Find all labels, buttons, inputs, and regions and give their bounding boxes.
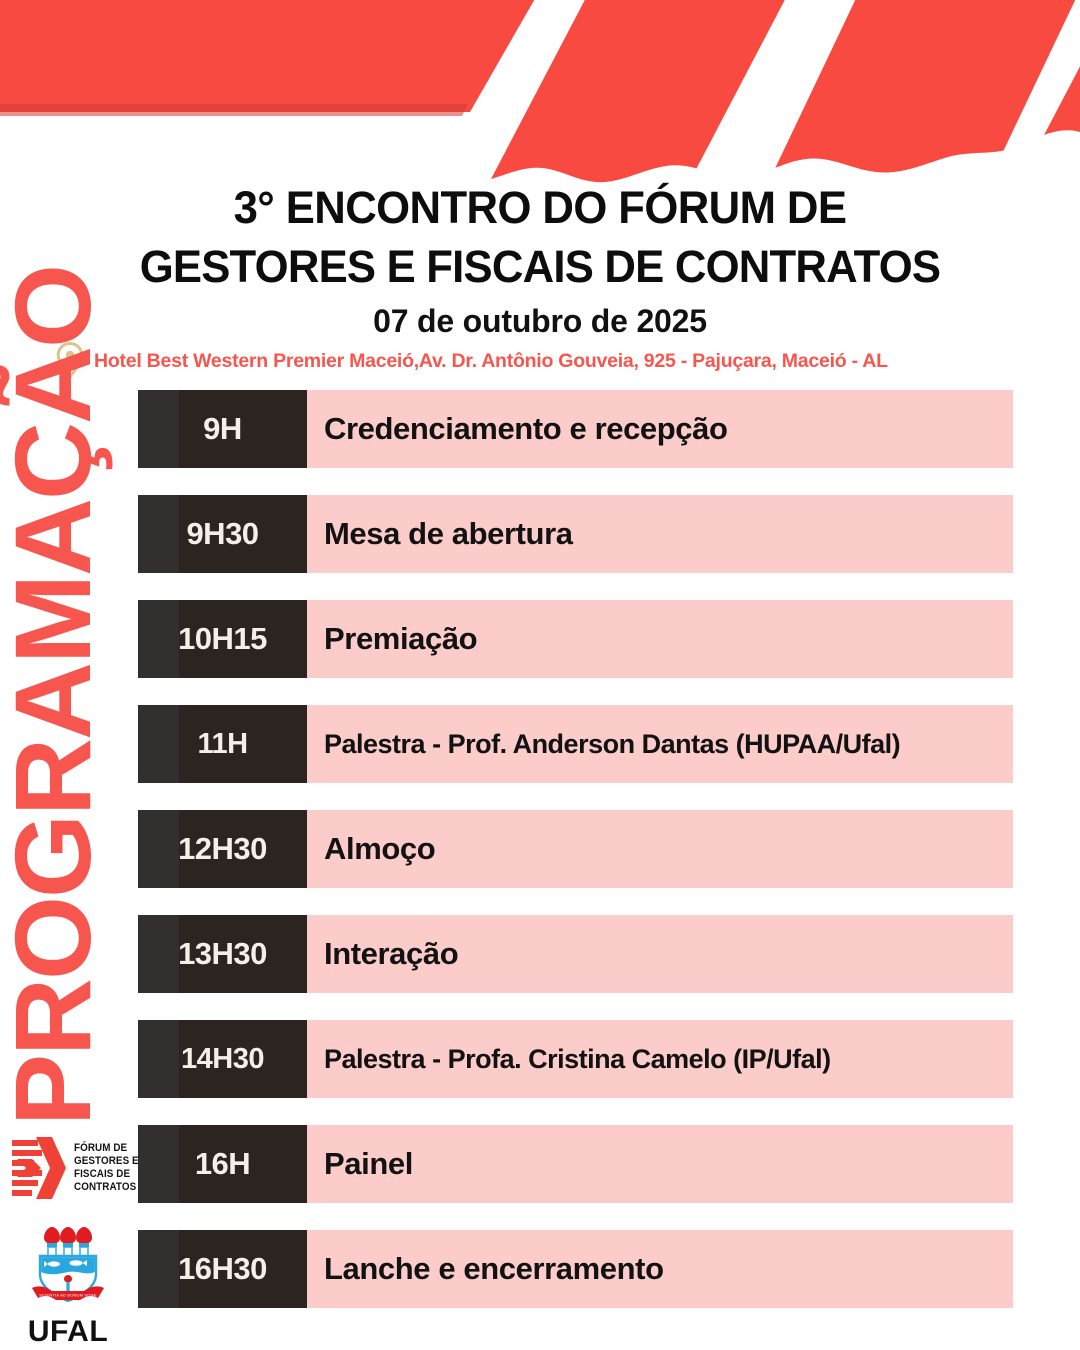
- banner-graphic: [0, 0, 1080, 190]
- table-row[interactable]: 11H Palestra - Prof. Anderson Dantas (HU…: [138, 705, 1013, 783]
- schedule-time-cell: 16H: [138, 1125, 307, 1203]
- schedule-desc-cell: Interação: [307, 915, 1013, 993]
- location-address: Hotel Best Western Premier Maceió,Av. Dr…: [94, 350, 888, 373]
- ufal-coat-of-arms-icon: SCIENTIA AD BONUM VITAE: [18, 1222, 118, 1312]
- event-location: Hotel Best Western Premier Maceió,Av. Dr…: [0, 344, 1080, 378]
- schedule-description: Palestra - Profa. Cristina Camelo (IP/Uf…: [324, 1045, 831, 1073]
- schedule-desc-cell: Palestra - Profa. Cristina Camelo (IP/Uf…: [307, 1020, 1013, 1098]
- top-banner: [0, 0, 1080, 190]
- programacao-vertical-heading: PROGRAMAÇÃO: [0, 366, 124, 1126]
- event-date: 07 de outubro de 2025: [0, 303, 1080, 340]
- schedule-desc-cell: Painel: [307, 1125, 1013, 1203]
- svg-text:SCIENTIA AD BONUM VITAE: SCIENTIA AD BONUM VITAE: [39, 1293, 97, 1298]
- ufal-logo: SCIENTIA AD BONUM VITAE UFAL: [16, 1222, 120, 1349]
- schedule-time-cell: 11H: [138, 705, 307, 783]
- schedule-desc-cell: Premiação: [307, 600, 1013, 678]
- schedule-time-cell: 9H: [138, 390, 307, 468]
- schedule-description: Lanche e encerramento: [324, 1253, 664, 1286]
- ufal-wordmark: UFAL: [16, 1315, 120, 1349]
- schedule-desc-cell: Credenciamento e recepção: [307, 390, 1013, 468]
- schedule-description: Interação: [324, 938, 458, 971]
- schedule-time-cell: 12H30: [138, 810, 307, 888]
- schedule-time-cell: 16H30: [138, 1230, 307, 1308]
- forum-logo-wordmark: FÓRUM DE GESTORES E FISCAIS DE CONTRATOS: [74, 1142, 139, 1195]
- event-title-line-1: 3° ENCONTRO DO FÓRUM DE: [16, 178, 1064, 237]
- forum-logo-line-3: FISCAIS DE: [74, 1168, 139, 1181]
- forum-logo-line-4: CONTRATOS: [74, 1181, 139, 1194]
- table-row[interactable]: 12H30 Almoço: [138, 810, 1013, 888]
- table-row[interactable]: 16H Painel: [138, 1125, 1013, 1203]
- schedule-time-cell: 14H30: [138, 1020, 307, 1098]
- schedule-description: Painel: [324, 1148, 413, 1181]
- table-row[interactable]: 9H30 Mesa de abertura: [138, 495, 1013, 573]
- programacao-label: PROGRAMAÇÃO: [0, 366, 124, 1126]
- schedule-time: 11H: [197, 728, 247, 761]
- forum-logo: FÓRUM DE GESTORES E FISCAIS DE CONTRATOS: [12, 1128, 136, 1208]
- forum-logo-line-2: GESTORES E: [74, 1155, 139, 1168]
- table-row[interactable]: 10H15 Premiação: [138, 600, 1013, 678]
- table-row[interactable]: 9H Credenciamento e recepção: [138, 390, 1013, 468]
- schedule-description: Palestra - Prof. Anderson Dantas (HUPAA/…: [324, 730, 900, 758]
- schedule-description: Premiação: [324, 623, 477, 656]
- schedule-time-cell: 9H30: [138, 495, 307, 573]
- schedule-list: 9H Credenciamento e recepção 9H30 Mesa d…: [138, 390, 1013, 1308]
- schedule-time: 10H15: [178, 621, 267, 657]
- event-title-line-2: GESTORES E FISCAIS DE CONTRATOS: [16, 237, 1064, 296]
- schedule-time: 16H: [195, 1146, 250, 1182]
- schedule-time-cell: 10H15: [138, 600, 307, 678]
- schedule-description: Almoço: [324, 833, 435, 866]
- forum-logo-line-1: FÓRUM DE: [74, 1142, 139, 1155]
- schedule-time: 16H30: [178, 1251, 267, 1287]
- page-header: 3° ENCONTRO DO FÓRUM DE GESTORES E FISCA…: [0, 178, 1080, 340]
- schedule-time: 13H30: [178, 936, 267, 972]
- schedule-time: 14H30: [181, 1043, 264, 1076]
- table-row[interactable]: 13H30 Interação: [138, 915, 1013, 993]
- schedule-time: 9H30: [186, 516, 258, 552]
- schedule-desc-cell: Lanche e encerramento: [307, 1230, 1013, 1308]
- schedule-description: Credenciamento e recepção: [324, 413, 728, 446]
- schedule-time-cell: 13H30: [138, 915, 307, 993]
- schedule-desc-cell: Palestra - Prof. Anderson Dantas (HUPAA/…: [307, 705, 1013, 783]
- schedule-desc-cell: Mesa de abertura: [307, 495, 1013, 573]
- schedule-description: Mesa de abertura: [324, 518, 573, 551]
- schedule-desc-cell: Almoço: [307, 810, 1013, 888]
- schedule-time: 9H: [203, 411, 242, 447]
- schedule-time: 12H30: [178, 831, 267, 867]
- table-row[interactable]: 16H30 Lanche e encerramento: [138, 1230, 1013, 1308]
- forum-chevron-arrow-icon: [12, 1137, 68, 1199]
- table-row[interactable]: 14H30 Palestra - Profa. Cristina Camelo …: [138, 1020, 1013, 1098]
